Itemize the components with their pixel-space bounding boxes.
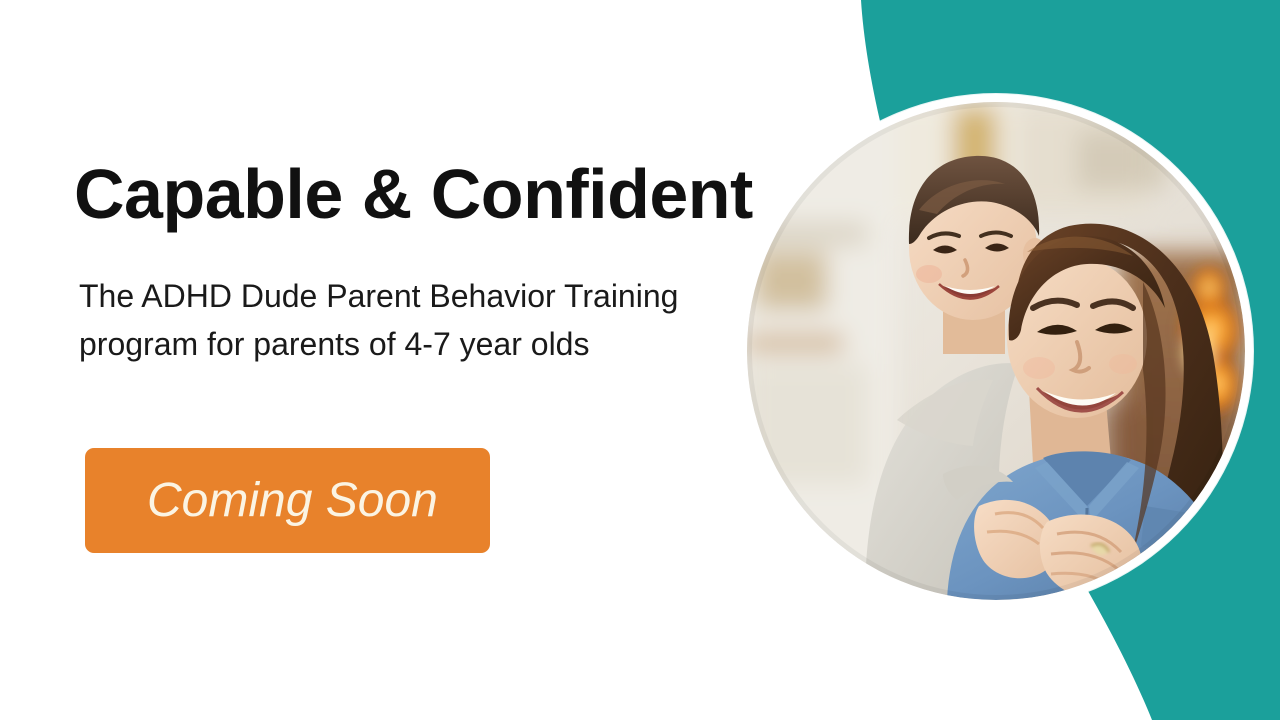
- subtitle: The ADHD Dude Parent Behavior Training p…: [79, 272, 739, 368]
- subtitle-line-1: The ADHD Dude Parent Behavior Training: [79, 272, 739, 320]
- hero-photo-circle: [739, 94, 1253, 608]
- coming-soon-button[interactable]: Coming Soon: [85, 448, 490, 553]
- subtitle-line-2: program for parents of 4-7 year olds: [79, 320, 739, 368]
- slide-canvas: Capable & Confident The ADHD Dude Parent…: [0, 0, 1280, 720]
- page-title: Capable & Confident: [74, 159, 753, 229]
- hero-photo: [747, 102, 1245, 600]
